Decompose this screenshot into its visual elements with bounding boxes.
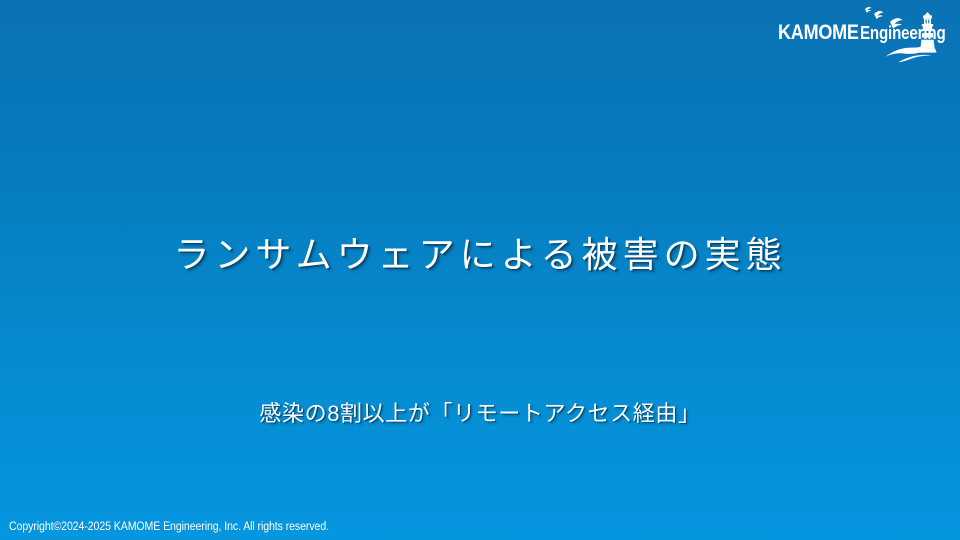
seagull-icon [874, 11, 884, 19]
logo-brand-secondary: Engineering [860, 24, 946, 42]
logo-wordmark: KAMOME Engineering [778, 22, 960, 46]
logo-brand-primary: KAMOME [778, 22, 859, 43]
presentation-slide: KAMOME Engineering ランサムウェアによる被害の実態 感染の8割… [0, 0, 960, 540]
slide-subtitle: 感染の8割以上が「リモートアクセス経由」 [0, 400, 960, 429]
brand-logo: KAMOME Engineering [770, 0, 960, 72]
seagull-icon [865, 7, 872, 13]
slide-title: ランサムウェアによる被害の実態 [0, 232, 960, 277]
copyright-footer: Copyright©2024-2025 KAMOME Engineering, … [9, 521, 329, 535]
